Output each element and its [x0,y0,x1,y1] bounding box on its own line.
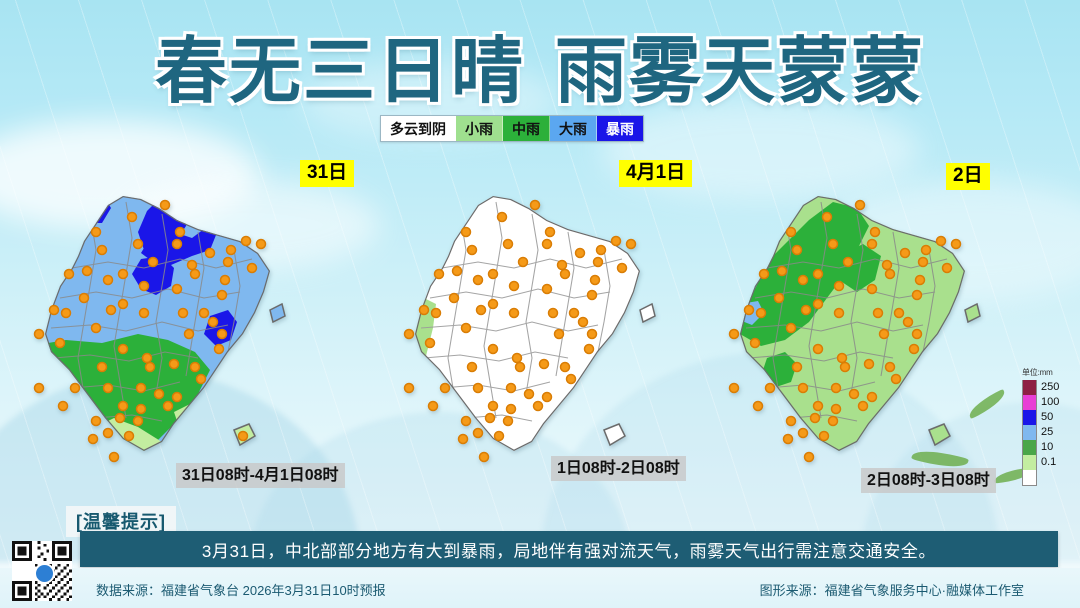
colorbar-swatch [1022,410,1037,425]
infographic-canvas: 春无三日晴雨雾天蒙蒙 多云到阴 小雨 中雨 大雨 暴雨 31日 4月1日 2日 [0,0,1080,608]
colorbar-swatch [1022,440,1037,455]
tip-message: 3月31日，中北部部分地方有大到暴雨，局地伴有强对流天气，雨雾天气出行需注意交通… [202,537,936,562]
forecast-map-day3[interactable] [715,178,1035,478]
title-left: 春无三日晴 [155,29,525,113]
colorbar-stop: 0.1 [1022,455,1078,470]
colorbar-stop: 100 [1022,395,1078,410]
colorbar-swatch [1022,425,1037,440]
legend-item-light-rain[interactable]: 小雨 [456,116,503,141]
tip-banner: 3月31日，中北部部分地方有大到暴雨，局地伴有强对流天气，雨雾天气出行需注意交通… [80,531,1058,567]
colorbar-stop: 10 [1022,440,1078,455]
period-caption-day2: 1日08时-2日08时 [551,456,686,481]
forecast-map-day2[interactable] [390,178,710,478]
colorbar-stop: 50 [1022,410,1078,425]
rain-class-legend: 多云到阴 小雨 中雨 大雨 暴雨 [380,115,644,142]
colorbar-value: 250 [1041,382,1059,393]
legend-item-moderate-rain[interactable]: 中雨 [503,116,550,141]
page-title: 春无三日晴雨雾天蒙蒙 [0,12,1080,117]
colorbar-swatch [1022,380,1037,395]
colorbar-value: 10 [1041,442,1053,453]
footer-graphic-source: 图形来源：福建省气象服务中心·融媒体工作室 [760,580,1024,599]
legend-item-rainstorm[interactable]: 暴雨 [597,116,643,141]
footer-data-source: 数据来源：福建省气象台 2026年3月31日10时预报 [96,580,386,599]
colorbar-swatch [1022,470,1037,486]
colorbar-swatch [1022,455,1037,470]
colorbar-value: 50 [1041,412,1053,423]
qr-center-logo [34,563,55,584]
period-caption-day1: 31日08时-4月1日08时 [176,463,345,488]
colorbar-value: 100 [1041,397,1059,408]
colorbar-unit-label: 单位:mm [1022,367,1078,378]
legend-item-heavy-rain[interactable]: 大雨 [550,116,597,141]
colorbar-stop: 250 [1022,380,1078,395]
title-right: 雨雾天蒙蒙 [555,29,925,113]
footer-bar: 数据来源：福建省气象台 2026年3月31日10时预报 图形来源：福建省气象服务… [0,568,1080,608]
colorbar-value: 0.1 [1041,457,1056,468]
forecast-map-day1[interactable] [20,178,340,478]
colorbar-value: 25 [1041,427,1053,438]
precipitation-colorbar: 单位:mm 250 100 50 25 10 0.1 [1022,367,1078,485]
colorbar-swatch [1022,395,1037,410]
colorbar-stop: 25 [1022,425,1078,440]
period-caption-day3: 2日08时-3日08时 [861,468,996,493]
legend-item-cloudy[interactable]: 多云到阴 [381,116,456,141]
colorbar-stop [1022,470,1078,485]
